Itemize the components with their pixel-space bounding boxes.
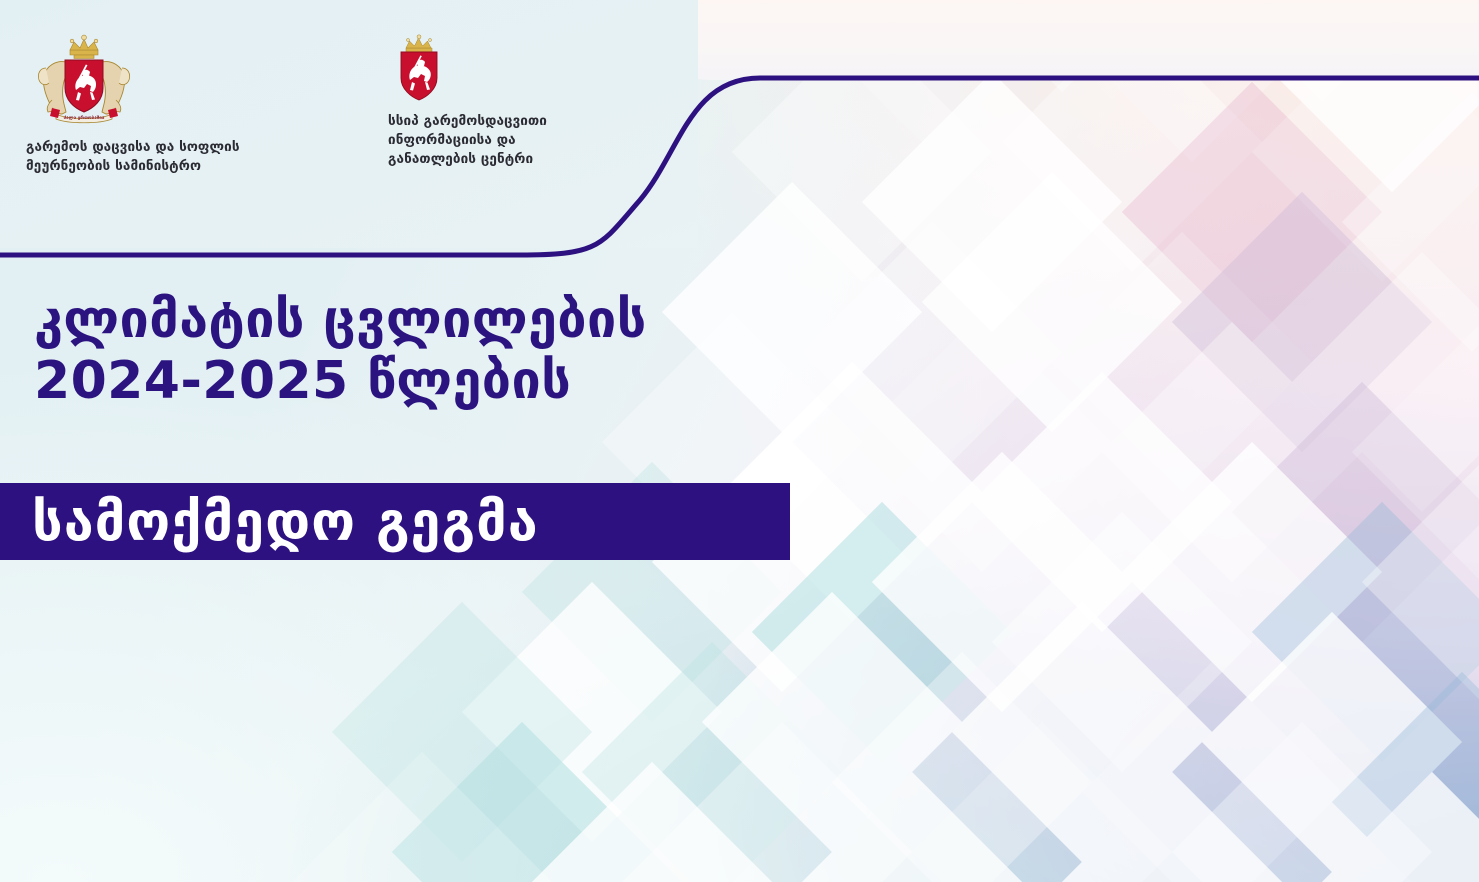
emblem-wrap: ძალა ერთობაშია	[26, 34, 326, 126]
cover-page: ძალა ერთობაშია გარემოს დაცვისა და სოფლის…	[0, 0, 1479, 882]
ministry-org-name-line1: გარემოს დაცვისა და სოფლის	[26, 138, 326, 157]
title-line-1: კლიმატის ცვლილების	[34, 290, 854, 351]
center-org-name-line3: განათლების ცენტრი	[388, 150, 638, 169]
georgia-coat-of-arms-icon: ძალა ერთობაშია	[32, 34, 136, 126]
georgia-shield-emblem-icon	[392, 34, 446, 104]
title-banner-text: სამოქმედო გეგმა	[32, 495, 539, 549]
emblem-wrap	[388, 34, 638, 104]
ministry-org-name-line2: მეურნეობის სამინისტრო	[26, 157, 326, 176]
center-org-name-line1: სსიპ გარემოსდაცვითი	[388, 112, 638, 131]
svg-text:ძალა ერთობაშია: ძალა ერთობაშია	[64, 114, 105, 121]
ministry-logo-block: ძალა ერთობაშია გარემოს დაცვისა და სოფლის…	[26, 34, 326, 176]
title-line-2: 2024-2025 წლების	[34, 351, 854, 412]
center-org-name: სსიპ გარემოსდაცვითი ინფორმაციისა და განა…	[388, 112, 638, 169]
center-org-name-line2: ინფორმაციისა და	[388, 131, 638, 150]
ministry-org-name: გარემოს დაცვისა და სოფლის მეურნეობის სამ…	[26, 138, 326, 176]
logo-row: ძალა ერთობაშია გარემოს დაცვისა და სოფლის…	[0, 34, 638, 176]
center-logo-block: სსიპ გარემოსდაცვითი ინფორმაციისა და განა…	[388, 34, 638, 169]
page-title: კლიმატის ცვლილების 2024-2025 წლების	[34, 290, 854, 413]
title-banner: სამოქმედო გეგმა	[0, 483, 790, 560]
